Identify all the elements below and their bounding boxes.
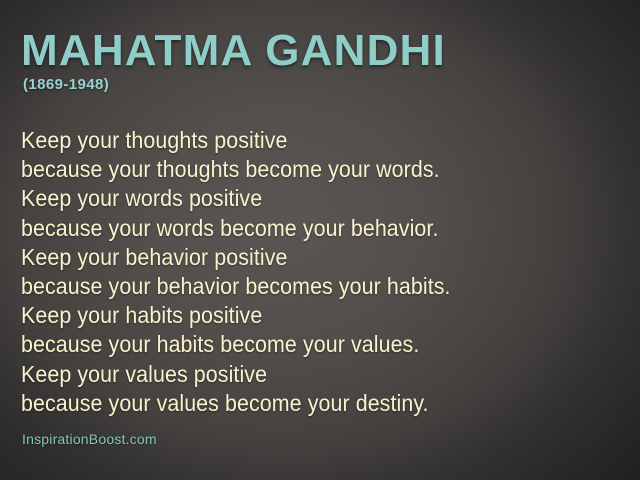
quote-line: Keep your thoughts positive [21,126,579,155]
quote-line: Keep your behavior positive [21,243,579,272]
source-watermark: InspirationBoost.com [22,431,157,447]
quote-line: Keep your values positive [21,360,579,389]
quote-line: because your thoughts become your words. [21,155,579,184]
quote-line: Keep your habits positive [21,301,579,330]
quote-line: Keep your words positive [21,184,579,213]
author-lifespan: (1869-1948) [23,76,446,93]
quote-text-block: Keep your thoughts positive because your… [21,126,621,418]
quote-line: because your habits become your values. [21,330,579,359]
poster-content: MAHATMA GANDHI (1869-1948) Keep your tho… [0,0,640,480]
quote-poster: MAHATMA GANDHI (1869-1948) Keep your tho… [0,0,640,480]
quote-line: because your words become your behavior. [21,214,579,243]
page-title: MAHATMA GANDHI [21,28,446,74]
quote-line: because your values become your destiny. [21,389,579,418]
heading-block: MAHATMA GANDHI (1869-1948) [21,28,446,93]
quote-line: because your behavior becomes your habit… [21,272,579,301]
